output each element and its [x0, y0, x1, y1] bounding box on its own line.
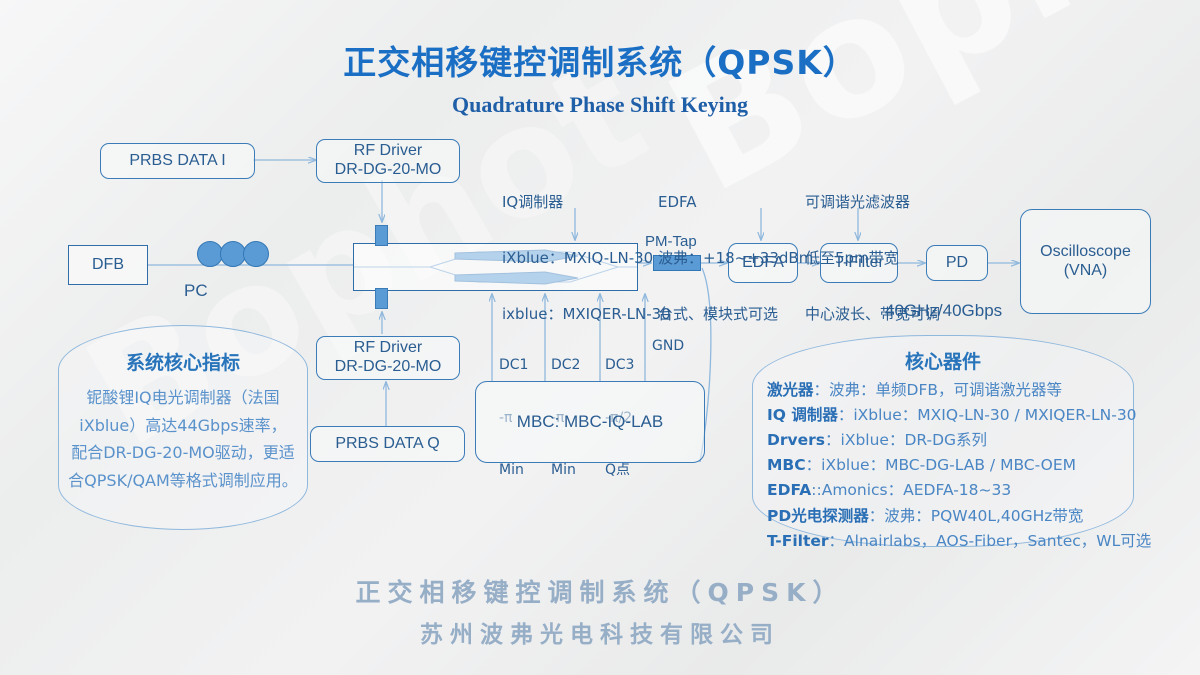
device-row: T-Filter：Alnairlabs，AOS-Fiber，Santec，WL可… [767, 529, 1133, 554]
device-key: IQ 调制器 [767, 406, 838, 424]
bias-dc3-name: DC3 [605, 357, 634, 375]
modulator-electrode-bottom [375, 288, 388, 309]
device-value: 波弗：PQW40L,40GHz带宽 [884, 507, 1083, 525]
metrics-line-2: iXblue）高达44Gbps速率， [68, 412, 298, 440]
annotation-edfa-line1: EDFA [658, 193, 813, 212]
device-row: PD光电探测器：波弗：PQW40L,40GHz带宽 [767, 504, 1133, 529]
device-value: iXblue：MXIQ-LN-30 / MXIQER-LN-30 [853, 406, 1136, 424]
device-sep: ： [806, 456, 822, 474]
footer-line-1: 正交相移键控调制系统（QPSK） [0, 573, 1200, 609]
device-value: iXblue：DR-DG系列 [841, 431, 988, 449]
device-key: T-Filter [767, 532, 829, 550]
annotation-edfa: EDFA 波弗：+18~+33dBm 台式、模块式可选 [658, 155, 813, 361]
device-row: 激光器：波弗：单频DFB，可调谐激光器等 [767, 378, 1133, 403]
device-key: PD光电探测器 [767, 507, 869, 525]
annotation-iq-line3: ixblue：MXIQER-LN-30 [502, 305, 671, 324]
bias-dc2-name: DC2 [551, 357, 580, 375]
panel-core-devices: 核心器件 激光器：波弗：单频DFB，可调谐激光器等 IQ 调制器：iXblue：… [752, 335, 1134, 547]
device-key: 激光器 [767, 381, 814, 399]
annotation-iq-line2: iXblue：MXIQ-LN-30 [502, 249, 671, 268]
device-key: MBC [767, 456, 806, 474]
footer-line-2: 苏州波弗光电科技有限公司 [0, 615, 1200, 649]
node-mbc[interactable]: MBC: MBC-IQ-LAB [475, 381, 705, 463]
device-sep: ： [814, 381, 830, 399]
device-sep: ： [869, 507, 885, 525]
annotation-edfa-line3: 台式、模块式可选 [658, 305, 813, 324]
device-row: MBC：iXblue：MBC-DG-LAB / MBC-OEM [767, 453, 1133, 478]
panel-metrics-title: 系统核心指标 [126, 348, 240, 375]
device-sep: ： [825, 431, 841, 449]
device-sep: ： [838, 406, 854, 424]
page-title-en: Quadrature Phase Shift Keying [0, 92, 1200, 118]
metrics-line-1: 铌酸锂IQ电光调制器（法国 [68, 384, 298, 412]
bias-dc1-name: DC1 [499, 357, 528, 375]
annotation-tfilter-line3: 中心波长、带宽可调 [805, 305, 940, 324]
annotation-iq-line1: IQ调制器 [502, 193, 671, 212]
panel-devices-title: 核心器件 [905, 347, 981, 374]
bias-dc2-point: Min [551, 462, 580, 480]
node-rf-driver-top[interactable]: RF Driver DR-DG-20-MO [316, 139, 460, 183]
annotation-tunable-filter: 可调谐光滤波器 低至5pm带宽 中心波长、带宽可调 [805, 155, 940, 361]
metrics-line-4: 合QPSK/QAM等格式调制应用。 [68, 467, 298, 495]
node-rf-driver-bottom[interactable]: RF Driver DR-DG-20-MO [316, 336, 460, 380]
metrics-line-3: 配合DR-DG-20-MO驱动，更适 [68, 439, 298, 467]
device-value: iXblue：MBC-DG-LAB / MBC-OEM [821, 456, 1076, 474]
device-value: 波弗：单频DFB，可调谐激光器等 [829, 381, 1062, 399]
page-title-cn: 正交相移键控调制系统（QPSK） [0, 36, 1200, 84]
device-key: Drvers [767, 431, 825, 449]
node-oscilloscope[interactable]: Oscilloscope (VNA) [1020, 209, 1151, 314]
annotation-tfilter-line2: 低至5pm带宽 [805, 249, 940, 268]
label-pc: PC [184, 280, 208, 301]
node-dfb-laser[interactable]: DFB [68, 245, 148, 285]
bias-dc3-point: Q点 [605, 462, 634, 480]
annotation-edfa-line2: 波弗：+18~+33dBm [658, 249, 813, 268]
node-prbs-data-i[interactable]: PRBS DATA I [100, 143, 255, 179]
panel-system-metrics: 系统核心指标 铌酸锂IQ电光调制器（法国 iXblue）高达44Gbps速率， … [58, 325, 308, 530]
modulator-electrode-top [375, 225, 388, 246]
device-row: EDFA::Amonics：AEDFA-18~33 [767, 478, 1133, 503]
bias-label-gnd: GND [652, 338, 684, 356]
device-key: EDFA [767, 481, 811, 499]
device-row: Drvers：iXblue：DR-DG系列 [767, 428, 1133, 453]
bias-dc1-point: Min [499, 462, 528, 480]
pc-loop-3 [243, 241, 269, 267]
device-row: IQ 调制器：iXblue：MXIQ-LN-30 / MXIQER-LN-30 [767, 403, 1133, 428]
device-sep: :: [811, 481, 821, 499]
device-sep: ： [829, 532, 845, 550]
node-prbs-data-q[interactable]: PRBS DATA Q [310, 426, 465, 462]
annotation-tfilter-line1: 可调谐光滤波器 [805, 193, 940, 212]
device-value: Amonics：AEDFA-18~33 [822, 481, 1012, 499]
device-value: Alnairlabs，AOS-Fiber，Santec，WL可选 [844, 532, 1151, 550]
